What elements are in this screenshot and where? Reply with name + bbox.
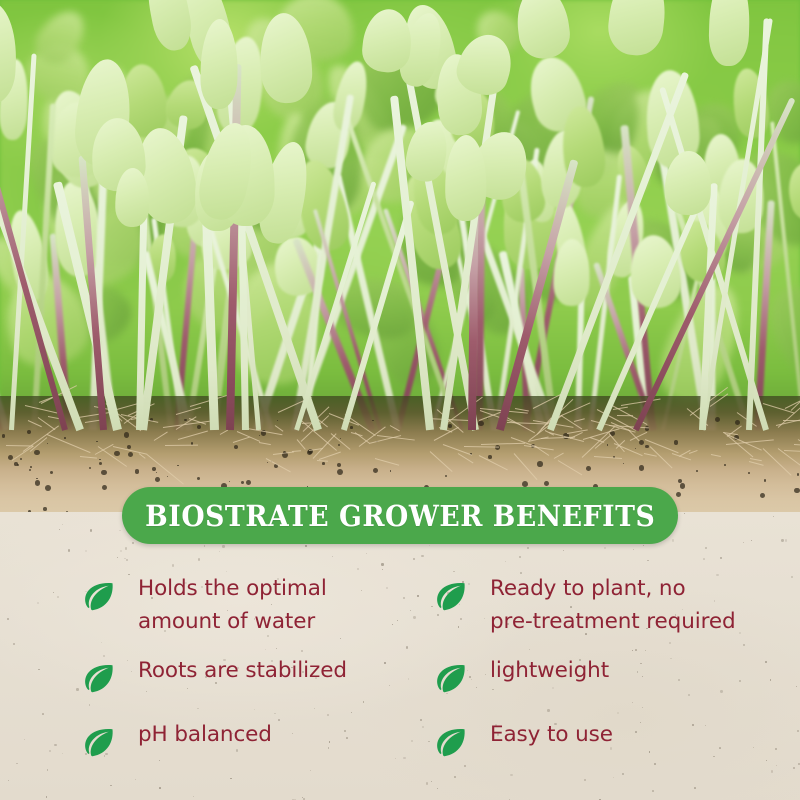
benefit-item: lightweight — [434, 654, 800, 702]
leaf-icon — [82, 580, 116, 614]
benefit-label: pH balanced — [138, 718, 272, 751]
leaf-icon — [434, 580, 468, 614]
microgreens-photo — [0, 0, 800, 516]
benefit-item: Roots are stabilized — [82, 654, 400, 702]
benefits-column-left: Holds the optimal amount of water Roots … — [0, 572, 400, 782]
banner: BIOSTRATE GROWER BENEFITS — [122, 487, 678, 544]
benefit-label: Roots are stabilized — [138, 654, 347, 687]
benefit-label: lightweight — [490, 654, 609, 687]
leaf-icon — [82, 726, 116, 760]
leaf-icon — [434, 726, 468, 760]
benefit-label: Holds the optimal amount of water — [138, 572, 327, 638]
benefit-item: Easy to use — [434, 718, 800, 766]
benefits-column-right: Ready to plant, no pre-treatment require… — [400, 572, 800, 782]
benefit-item: Ready to plant, no pre-treatment require… — [434, 572, 800, 638]
benefits-section: Holds the optimal amount of water Roots … — [0, 572, 800, 782]
benefit-label: Ready to plant, no pre-treatment require… — [490, 572, 736, 638]
poster: BIOSTRATE GROWER BENEFITS Holds the opti… — [0, 0, 800, 800]
benefit-item: pH balanced — [82, 718, 400, 766]
page-title: BIOSTRATE GROWER BENEFITS — [145, 499, 655, 533]
leaf-icon — [82, 662, 116, 696]
benefit-label: Easy to use — [490, 718, 613, 751]
leaf-icon — [434, 662, 468, 696]
benefit-item: Holds the optimal amount of water — [82, 572, 400, 638]
